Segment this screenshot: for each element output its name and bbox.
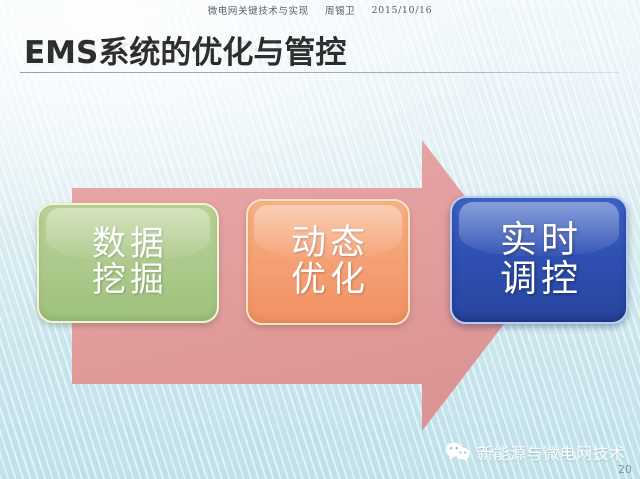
process-box-3-line-2: 调控 [496, 260, 582, 299]
page-number: 20 [618, 463, 632, 476]
footer-label: 新能源与微电网技术 [477, 440, 626, 464]
header-course-title: 微电网关键技术与实现 [208, 3, 309, 17]
process-box-1-line-2: 挖掘 [88, 263, 168, 299]
process-box-2-line-1: 动态 [287, 225, 369, 262]
wechat-icon [445, 441, 471, 463]
process-box-dynamic-optimization[interactable]: 动态 优化 [246, 199, 410, 325]
slide-header: 微电网关键技术与实现 周锡卫 2015/10/16 [0, 3, 640, 17]
process-box-1-line-1: 数据 [88, 227, 168, 263]
slide-canvas: 微电网关键技术与实现 周锡卫 2015/10/16 EMS系统的优化与管控 EM… [0, 0, 640, 479]
process-box-data-mining[interactable]: 数据 挖掘 [37, 203, 219, 323]
title-underline-rule [20, 72, 620, 73]
process-box-3-line-1: 实时 [496, 221, 582, 260]
footer-watermark: 新能源与微电网技术 [445, 440, 626, 464]
header-date: 2015/10/16 [372, 5, 433, 16]
process-box-2-line-2: 优化 [287, 262, 369, 299]
process-box-realtime-control[interactable]: 实时 调控 [450, 196, 628, 324]
header-author: 周锡卫 [325, 3, 355, 17]
page-title: EMS系统的优化与管控 [24, 36, 346, 70]
